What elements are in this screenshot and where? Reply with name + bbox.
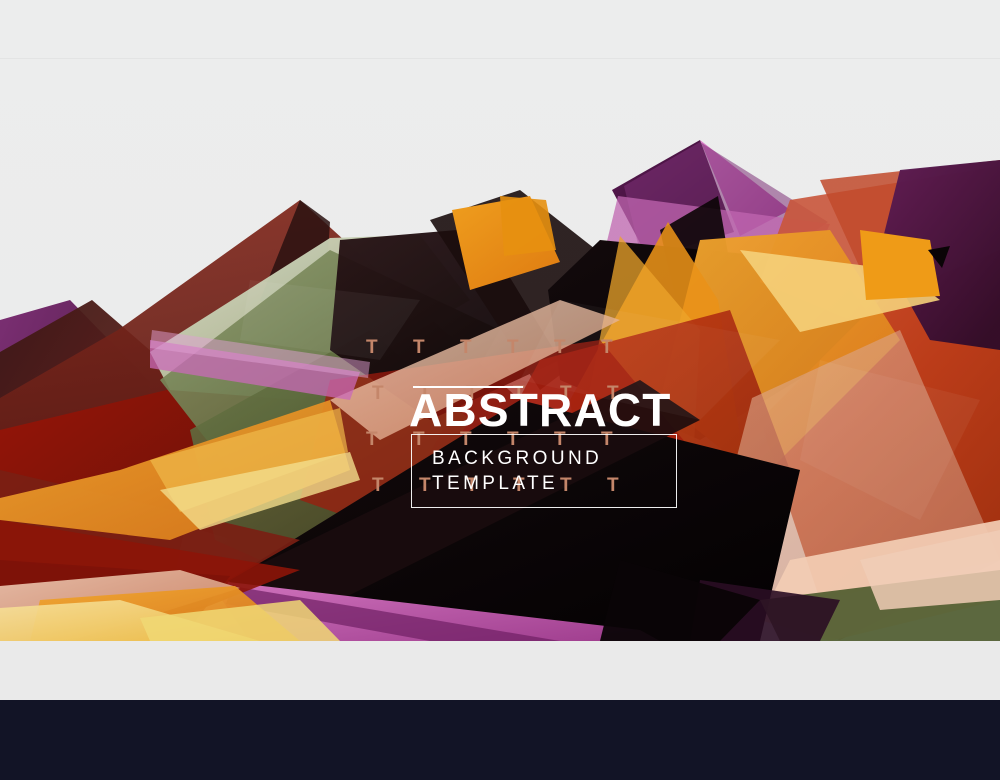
shape-orange-small — [500, 196, 556, 256]
abstract-artwork — [0, 0, 1000, 641]
footer-watermark-bar: VectorStock® VectorStock.com/23901701 — [0, 700, 1000, 780]
canvas-gap-bar — [0, 641, 1000, 700]
artwork-svg — [0, 0, 1000, 641]
shape-orange-right-small — [860, 230, 940, 300]
page-root: TTTTTTTTTTTTTTTTTTTTTTTT ABSTRACT BACKGR… — [0, 0, 1000, 780]
